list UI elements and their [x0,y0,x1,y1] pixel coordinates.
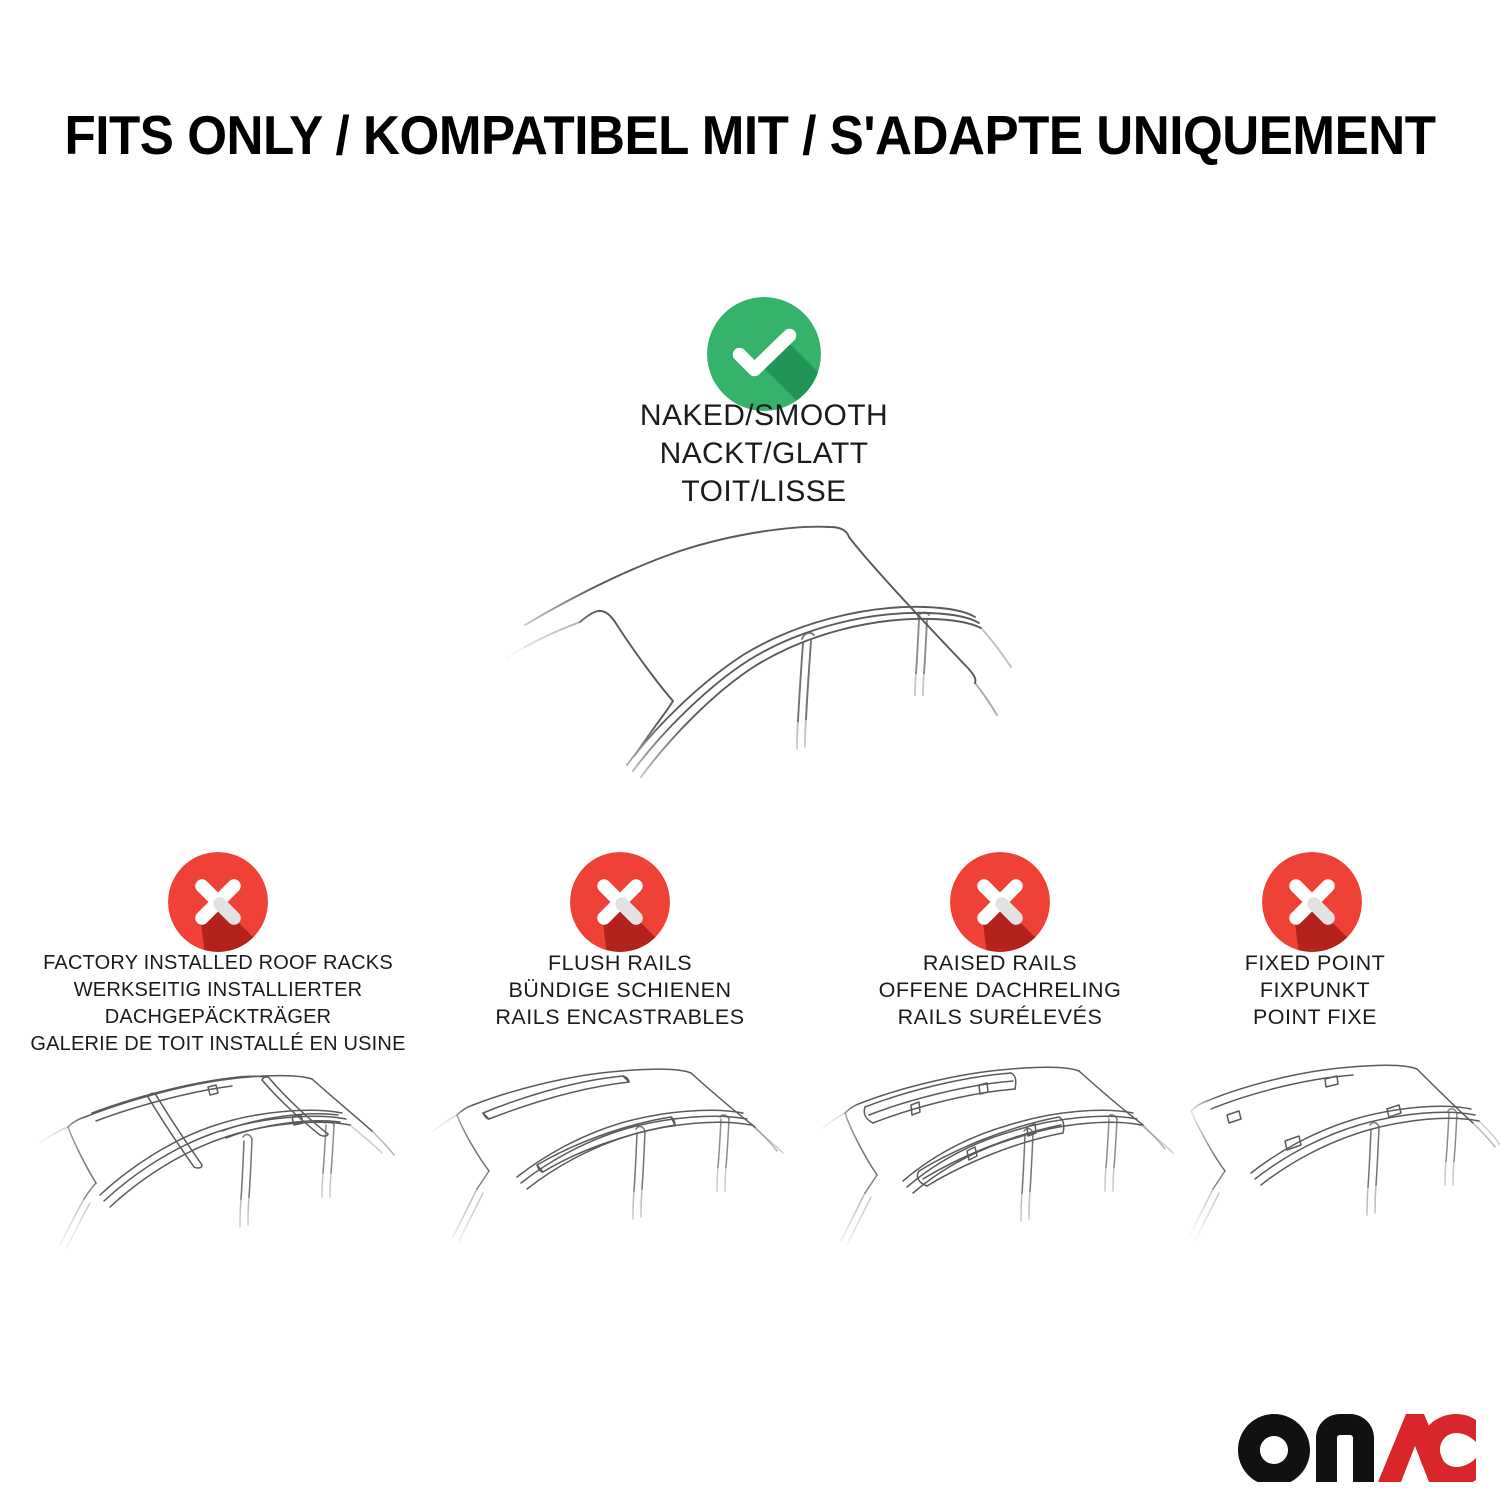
caption-line: WERKSEITIG INSTALLIERTER [8,977,428,1004]
caption-line: NAKED/SMOOTH [464,397,1064,435]
caption-line: RAILS ENCASTRABLES [430,1004,810,1031]
compatible-caption: NAKED/SMOOTH NACKT/GLATT TOIT/LISSE [464,397,1064,511]
caption-line: RAILS SURÉLEVÉS [810,1004,1190,1031]
naked-smooth-roof-illustration [495,515,1035,805]
caption-line: FIXPUNKT [1135,977,1495,1004]
incompatible-caption-1: FACTORY INSTALLED ROOF RACKS WERKSEITIG … [8,950,428,1058]
caption-line: POINT FIXE [1135,1004,1495,1031]
caption-line: NACKT/GLATT [464,435,1064,473]
page-title: FITS ONLY / KOMPATIBEL MIT / S'ADAPTE UN… [53,104,1448,166]
fixed-point-illustration [1185,1055,1500,1270]
caption-line: GALERIE DE TOIT INSTALLÉ EN USINE [8,1031,428,1058]
caption-line: FACTORY INSTALLED ROOF RACKS [8,950,428,977]
logo-letter-m [1316,1414,1374,1482]
caption-line: OFFENE DACHRELING [810,977,1190,1004]
caption-line: DACHGEPÄCKTRÄGER [8,1004,428,1031]
cross-circle-icon [570,852,670,952]
omac-logo [1238,1410,1476,1482]
infographic-page: FITS ONLY / KOMPATIBEL MIT / S'ADAPTE UN… [0,0,1500,1500]
cross-circle-icon [950,852,1050,952]
raised-rails-illustration [815,1055,1205,1270]
flush-rails-illustration [425,1055,815,1270]
factory-roof-rack-illustration [30,1055,430,1270]
logo-letter-o [1238,1414,1310,1482]
caption-line: FIXED POINT [1135,950,1495,977]
cross-circle-icon [1262,852,1362,952]
check-circle-icon [707,297,821,411]
caption-line: RAISED RAILS [810,950,1190,977]
cross-circle-icon [168,852,268,952]
caption-line: TOIT/LISSE [464,473,1064,511]
caption-line: BÜNDIGE SCHIENEN [430,977,810,1004]
incompatible-caption-4: FIXED POINT FIXPUNKT POINT FIXE [1135,950,1495,1031]
incompatible-caption-3: RAISED RAILS OFFENE DACHRELING RAILS SUR… [810,950,1190,1031]
caption-line: FLUSH RAILS [430,950,810,977]
incompatible-caption-2: FLUSH RAILS BÜNDIGE SCHIENEN RAILS ENCAS… [430,950,810,1031]
